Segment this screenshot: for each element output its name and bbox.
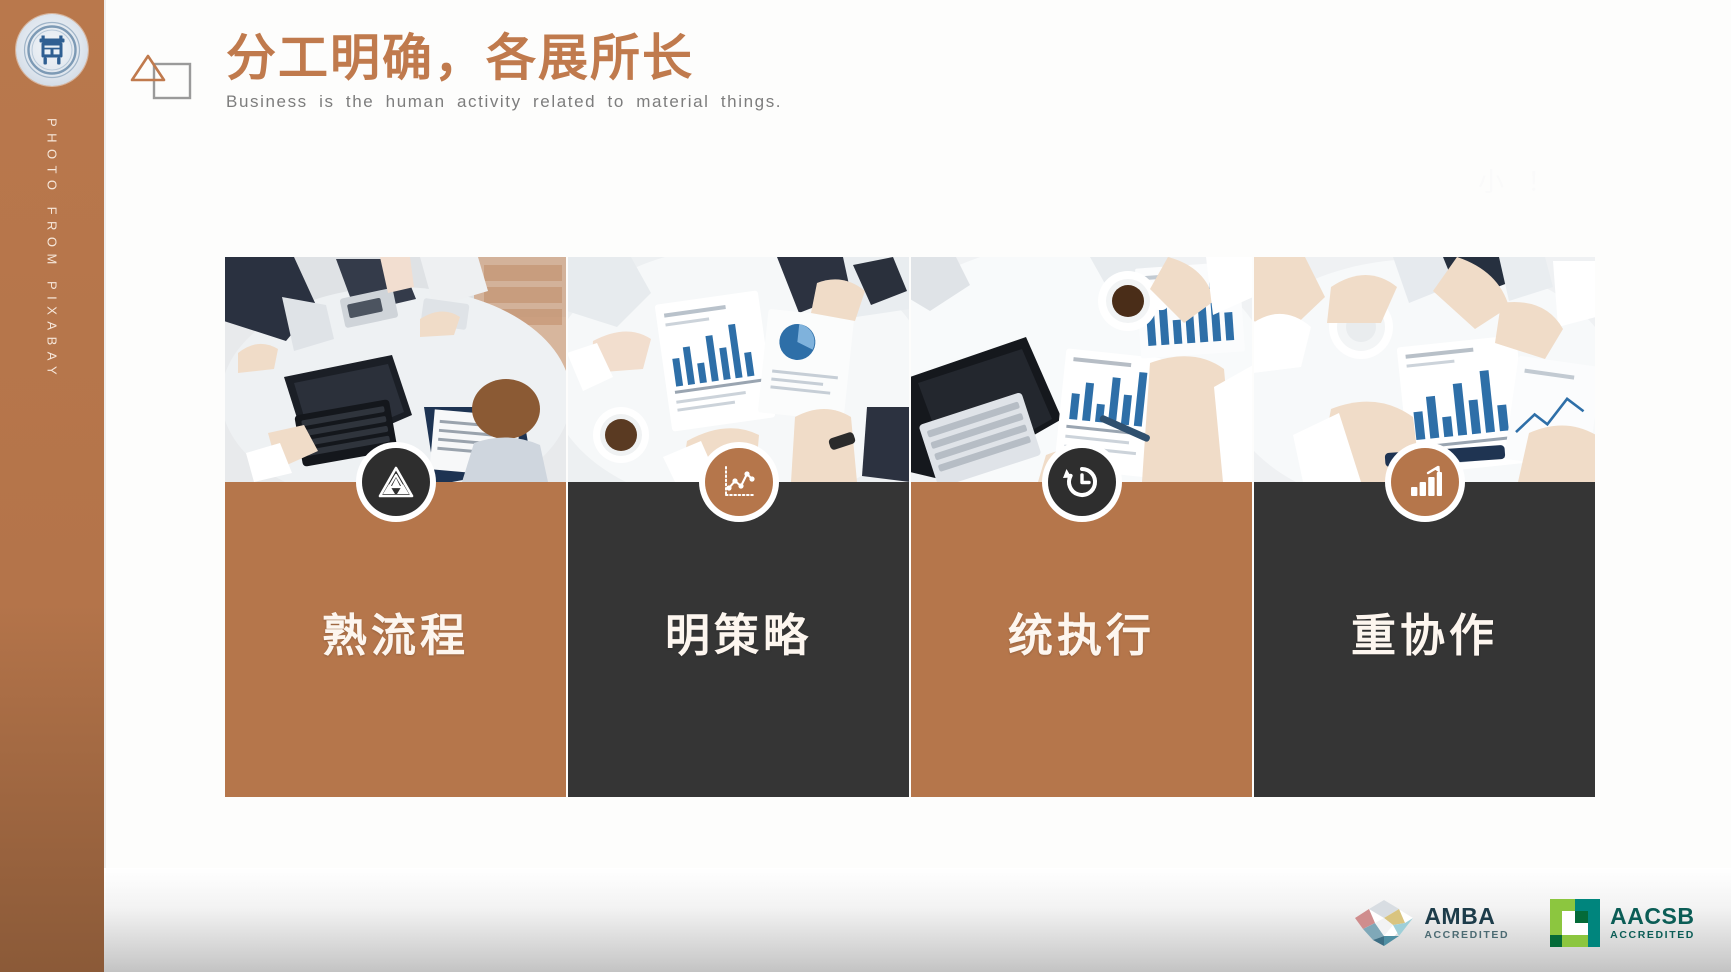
rail-divider [104, 0, 106, 972]
aacsb-logo-sub: ACCREDITED [1610, 930, 1695, 941]
card-label: 熟流程 [322, 599, 469, 664]
feature-card[interactable]: 重协作 [1254, 257, 1595, 797]
feature-card[interactable]: 统执行 [911, 257, 1252, 797]
amba-accreditation: AMBA ACCREDITED [1353, 898, 1509, 948]
aacsb-logo-name: AACSB [1610, 903, 1694, 929]
line-chart-icon[interactable] [705, 448, 773, 516]
page-title: 分工明确，各展所长 [226, 30, 782, 86]
card-body: 统执行 [911, 482, 1252, 797]
card-body: 熟流程 [225, 482, 566, 797]
pyramid-triangle-icon[interactable] [362, 448, 430, 516]
left-brand-rail: PHOTO FROM PIXABAY [0, 0, 104, 972]
card-deck: 熟流程 [225, 257, 1595, 797]
clock-history-icon[interactable] [1048, 448, 1116, 516]
feature-card[interactable]: 明策略 [568, 257, 909, 797]
feature-card[interactable]: 熟流程 [225, 257, 566, 797]
card-label: 统执行 [1008, 599, 1155, 664]
title-block: 分工明确，各展所长 Business is the human activity… [226, 30, 782, 112]
page-subtitle: Business is the human activity related t… [226, 92, 782, 112]
aacsb-accreditation: AACSB ACCREDITED [1549, 898, 1695, 948]
card-label: 重协作 [1351, 599, 1498, 664]
rail-caption-text: PHOTO FROM PIXABAY [45, 118, 60, 381]
card-body: 明策略 [568, 482, 909, 797]
card-body: 重协作 [1254, 482, 1595, 797]
slide-footer: AMBA ACCREDITED [104, 868, 1731, 972]
slide-header: 分工明确，各展所长 Business is the human activity… [128, 22, 1691, 132]
growth-bar-chart-icon[interactable] [1391, 448, 1459, 516]
background-watermark: 小 ！ [1478, 162, 1561, 199]
amba-logo-name: AMBA [1424, 903, 1495, 929]
aacsb-square-logo-icon [1549, 898, 1601, 948]
slide-canvas: PHOTO FROM PIXABAY 分工明确，各展所长 Business is… [0, 0, 1731, 972]
card-label: 明策略 [665, 599, 812, 664]
accreditation-logos: AMBA ACCREDITED [1353, 898, 1695, 948]
university-seal-ding-icon [16, 14, 88, 86]
amba-diamond-logo-icon [1353, 898, 1415, 948]
amba-logo-sub: ACCREDITED [1424, 930, 1509, 941]
triangle-square-outline-icon [128, 44, 194, 106]
